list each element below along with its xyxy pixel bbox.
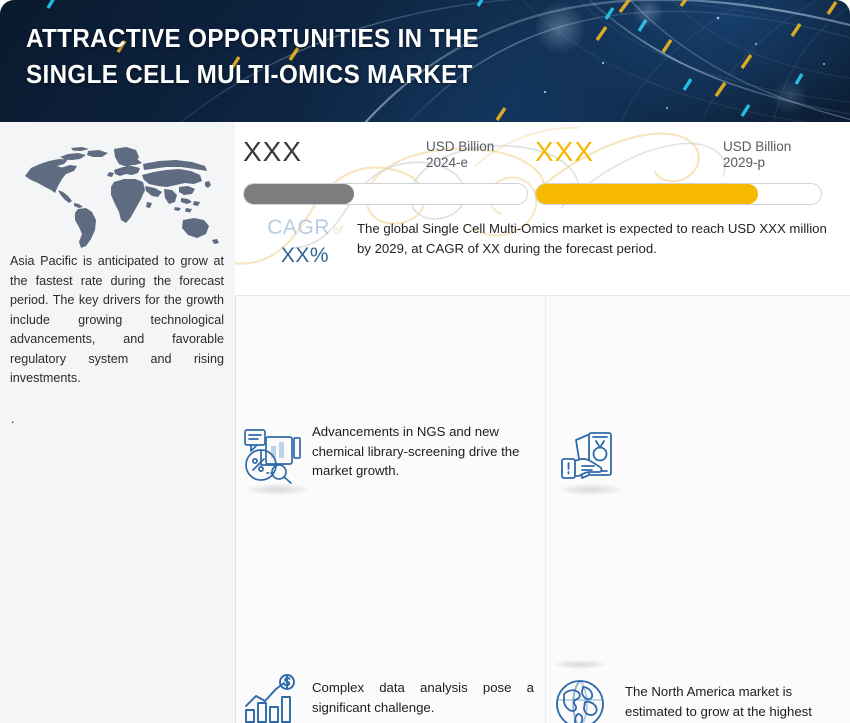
cagr-label-row: CAGRof xyxy=(245,216,365,243)
hand-money-icon xyxy=(556,428,618,486)
base-year-unit-line-2: 2024-e xyxy=(426,155,494,171)
vertical-divider xyxy=(545,295,546,723)
market-summary-text: The global Single Cell Multi-Omics marke… xyxy=(357,219,827,258)
content-body: Asia Pacific is anticipated to grow at t… xyxy=(0,122,850,723)
bar-chart-dollar-growth-icon-svg xyxy=(243,674,305,723)
horizontal-divider xyxy=(235,295,850,296)
forecast-year-unit: USD Billion 2029-p xyxy=(723,139,791,170)
cagr-label: CAGR xyxy=(267,216,330,239)
region-description: Asia Pacific is anticipated to grow at t… xyxy=(10,252,224,389)
base-year-unit-line-1: USD Billion xyxy=(426,139,494,155)
card-text: The North America market is estimated to… xyxy=(625,682,830,723)
card-text: Complex data analysis pose a significant… xyxy=(312,678,534,717)
page-title-line-2: SINGLE CELL MULTI-OMICS MARKET xyxy=(26,56,603,92)
globe-icon xyxy=(556,678,612,723)
world-map-svg xyxy=(16,144,221,252)
region-bullet: . xyxy=(11,412,15,426)
infographic-page: ATTRACTIVE OPPORTUNITIES IN THE SINGLE C… xyxy=(0,0,850,723)
forecast-year-bar-track xyxy=(535,183,822,205)
page-title: ATTRACTIVE OPPORTUNITIES IN THE SINGLE C… xyxy=(26,20,646,92)
world-map-icon xyxy=(16,144,221,252)
base-year-bar-fill xyxy=(244,184,354,204)
globe-icon-svg xyxy=(556,678,612,723)
cagr-block: CAGRof XX% xyxy=(245,216,365,268)
card-text: Advancements in NGS and new chemical lib… xyxy=(312,422,534,481)
chart-pie-magnifier-icon-svg xyxy=(243,428,305,486)
page-title-line-1: ATTRACTIVE OPPORTUNITIES IN THE xyxy=(26,20,603,56)
base-year-value: XXX xyxy=(243,136,302,168)
cagr-value: XX% xyxy=(245,243,365,268)
base-year-unit: USD Billion 2024-e xyxy=(426,139,494,170)
base-year-bar-track xyxy=(243,183,528,205)
market-size-panel: XXX USD Billion 2024-e XXX USD Billion 2… xyxy=(235,122,850,295)
header-banner: ATTRACTIVE OPPORTUNITIES IN THE SINGLE C… xyxy=(0,0,850,122)
bar-chart-dollar-growth-icon xyxy=(243,674,305,723)
chart-pie-magnifier-icon xyxy=(243,428,305,486)
forecast-year-unit-line-1: USD Billion xyxy=(723,139,791,155)
forecast-year-value: XXX xyxy=(535,136,594,168)
icon-shadow xyxy=(554,660,606,669)
cagr-of-label: of xyxy=(333,225,343,237)
forecast-year-bar-fill xyxy=(536,184,758,204)
forecast-year-unit-line-2: 2029-p xyxy=(723,155,791,171)
region-sidebar: Asia Pacific is anticipated to grow at t… xyxy=(0,122,236,723)
hand-money-icon-svg xyxy=(556,428,618,486)
